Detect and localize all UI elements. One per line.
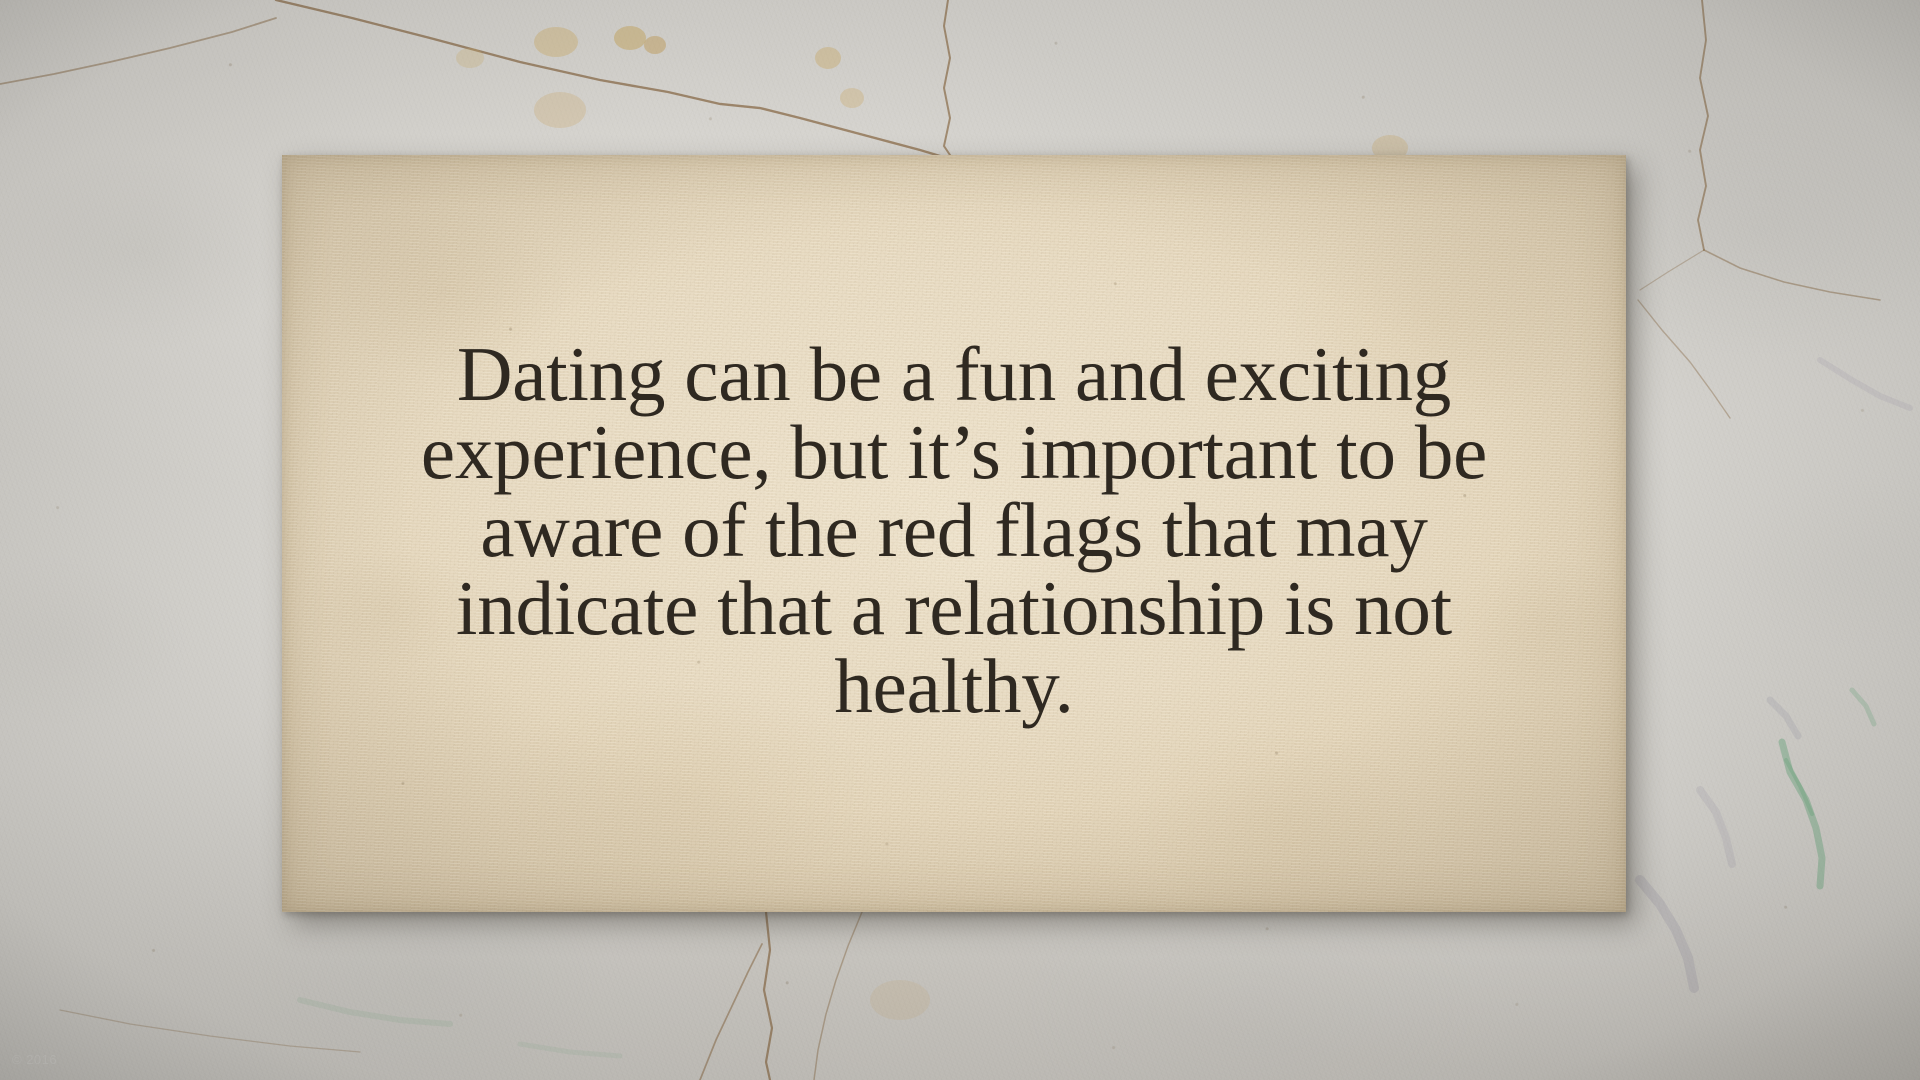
quote-line-2: experience, but it’s important to be — [364, 413, 1544, 491]
quote-line-5: healthy. — [364, 647, 1544, 725]
quote-line-1: Dating can be a fun and exciting — [364, 335, 1544, 413]
quote-line-4: indicate that a relationship is not — [364, 569, 1544, 647]
screenshot-stage: Dating can be a fun and exciting experie… — [0, 0, 1920, 1080]
quote-text-block: Dating can be a fun and exciting experie… — [364, 335, 1544, 733]
paper-quote-card: Dating can be a fun and exciting experie… — [282, 155, 1626, 912]
quote-line-3: aware of the red flags that may — [364, 491, 1544, 569]
